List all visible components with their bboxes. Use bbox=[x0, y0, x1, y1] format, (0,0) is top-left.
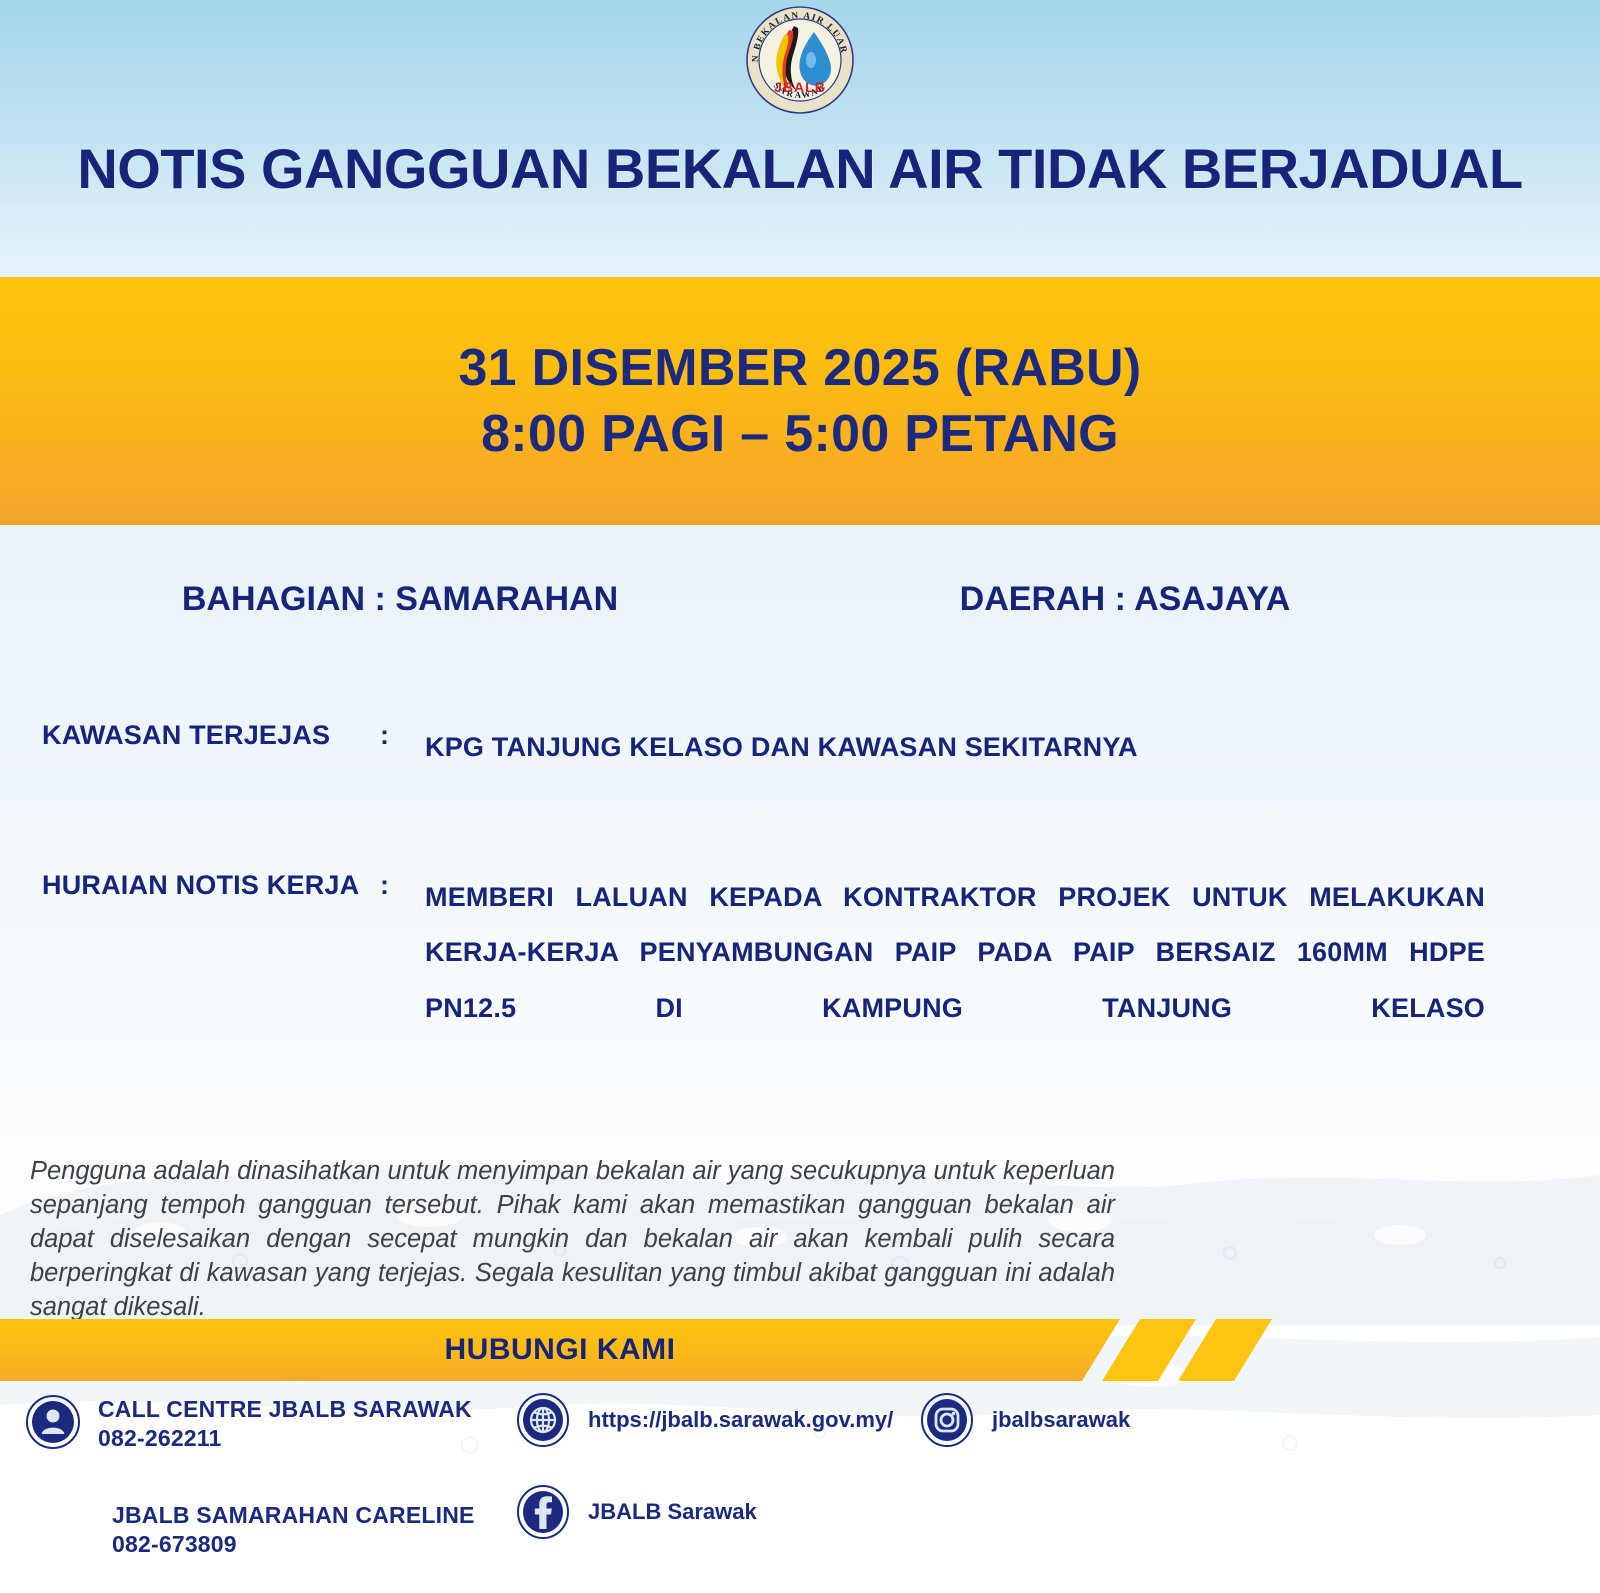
contact-call-centre[interactable]: CALL CENTRE JBALB SARAWAK 082-262211 bbox=[26, 1395, 472, 1454]
region-row: BAHAGIAN : SAMARAHAN DAERAH : ASAJAYA bbox=[0, 580, 1450, 619]
contact-careline[interactable]: JBALB SAMARAHAN CARELINE 082-673809 bbox=[112, 1501, 475, 1560]
call-centre-name: CALL CENTRE JBALB SARAWAK bbox=[98, 1395, 472, 1424]
affected-area-colon: : bbox=[380, 720, 425, 751]
contact-website[interactable]: https://jbalb.sarawak.gov.my/ bbox=[516, 1393, 893, 1447]
facebook-name[interactable]: JBALB Sarawak bbox=[588, 1485, 757, 1525]
work-description-label: HURAIAN NOTIS KERJA bbox=[0, 870, 380, 901]
affected-area-value: KPG TANJUNG KELASO DAN KAWASAN SEKITARNY… bbox=[425, 720, 1485, 775]
affected-area-label: KAWASAN TERJEJAS bbox=[0, 720, 380, 751]
affected-area-row: KAWASAN TERJEJAS : KPG TANJUNG KELASO DA… bbox=[0, 720, 1485, 775]
outage-date: 31 DISEMBER 2025 (RABU) bbox=[458, 338, 1141, 398]
instagram-handle[interactable]: jbalbsarawak bbox=[992, 1393, 1130, 1433]
website-url[interactable]: https://jbalb.sarawak.gov.my/ bbox=[588, 1393, 893, 1433]
header-band: JABATAN BEKALAN AIR LUAR BANDAR SARAWAK … bbox=[0, 0, 1600, 277]
work-description-value: MEMBERI LALUAN KEPADA KONTRAKTOR PROJEK … bbox=[425, 870, 1485, 1091]
instagram-icon bbox=[920, 1393, 974, 1447]
jbalb-logo: JABATAN BEKALAN AIR LUAR BANDAR SARAWAK … bbox=[744, 4, 856, 116]
outage-time: 8:00 PAGI – 5:00 PETANG bbox=[481, 404, 1119, 464]
contact-details: CALL CENTRE JBALB SARAWAK 082-262211 JBA… bbox=[0, 1381, 1600, 1593]
advisory-text: Pengguna adalah dinasihatkan untuk menyi… bbox=[30, 1155, 1115, 1325]
notice-poster: JABATAN BEKALAN AIR LUAR BANDAR SARAWAK … bbox=[0, 0, 1600, 1593]
careline-name: JBALB SAMARAHAN CARELINE bbox=[112, 1501, 475, 1530]
careline-phone[interactable]: 082-673809 bbox=[112, 1530, 475, 1559]
division-label: BAHAGIAN : SAMARAHAN bbox=[0, 580, 800, 619]
contact-instagram[interactable]: jbalbsarawak bbox=[920, 1393, 1130, 1447]
globe-icon bbox=[516, 1393, 570, 1447]
contact-facebook[interactable]: JBALB Sarawak bbox=[516, 1485, 757, 1539]
svg-text:JBALB: JBALB bbox=[774, 79, 826, 95]
contact-banner-title: HUBUNGI KAMI bbox=[0, 1319, 1120, 1381]
work-description-row: HURAIAN NOTIS KERJA : MEMBERI LALUAN KEP… bbox=[0, 870, 1485, 1091]
call-centre-phone[interactable]: 082-262211 bbox=[98, 1424, 472, 1453]
date-band: 31 DISEMBER 2025 (RABU) 8:00 PAGI – 5:00… bbox=[0, 277, 1600, 525]
page-title: NOTIS GANGGUAN BEKALAN AIR TIDAK BERJADU… bbox=[0, 136, 1600, 201]
work-description-colon: : bbox=[380, 870, 425, 901]
person-icon bbox=[26, 1395, 80, 1449]
facebook-icon bbox=[516, 1485, 570, 1539]
district-label: DAERAH : ASAJAYA bbox=[800, 580, 1450, 619]
